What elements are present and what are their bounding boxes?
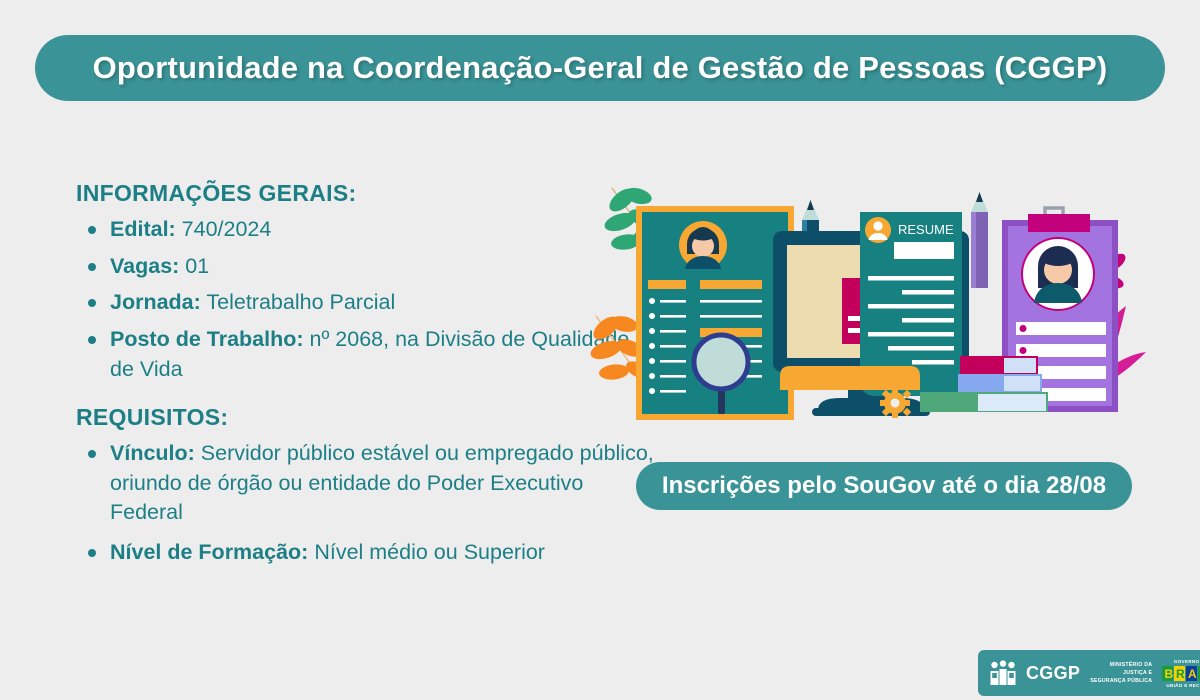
keyboard-illustration (780, 366, 920, 390)
list-item-label: Jornada: (110, 290, 201, 314)
list-item-value: Nível médio ou Superior (308, 540, 545, 564)
requisitos-section: REQUISITOS: Vínculo: Servidor público es… (76, 404, 656, 578)
requisitos-list: Vínculo: Servidor público estável ou emp… (76, 439, 656, 568)
ministry-label: MINISTÉRIO DA JUSTIÇA E SEGURANÇA PÚBLIC… (1090, 661, 1152, 685)
governo-federal-logo: GOVERNO FEDERAL B R A S I L UNIÃO E RECO… (1162, 659, 1200, 688)
list-item-label: Posto de Trabalho: (110, 327, 304, 351)
poster-canvas: Oportunidade na Coordenação-Geral de Ges… (0, 0, 1200, 700)
list-item-label: Vínculo: (110, 441, 195, 465)
governo-federal-top-label: GOVERNO FEDERAL (1174, 659, 1200, 664)
list-item-value: 01 (179, 254, 209, 278)
floor-dash-decoration (848, 396, 868, 403)
governo-federal-bottom-label: UNIÃO E RECONSTRUÇÃO (1166, 683, 1200, 688)
list-item-value: 740/2024 (176, 217, 272, 241)
page-title: Oportunidade na Coordenação-Geral de Ges… (93, 50, 1108, 86)
brasil-wordmark-icon: B R A S I L (1162, 665, 1200, 682)
list-item: Nível de Formação: Nível médio ou Superi… (76, 538, 656, 568)
ministry-line-2: JUSTIÇA E (1090, 669, 1152, 677)
svg-text:B: B (1165, 667, 1174, 681)
informacoes-gerais-section: INFORMAÇÕES GERAIS: Edital: 740/2024 Vag… (76, 180, 636, 391)
list-item: Vínculo: Servidor público estável ou emp… (76, 439, 656, 528)
ministry-line-1: MINISTÉRIO DA (1090, 661, 1152, 669)
list-item: Vagas: 01 (76, 252, 636, 282)
people-group-icon (988, 660, 1022, 686)
svg-text:A: A (1188, 667, 1197, 681)
footer-logo-bar: CGGP MINISTÉRIO DA JUSTIÇA E SEGURANÇA P… (978, 650, 1200, 696)
svg-text:R: R (1176, 667, 1185, 681)
section-heading-informacoes: INFORMAÇÕES GERAIS: (76, 180, 636, 207)
cta-label: Inscrições pelo SouGov até o dia 28/08 (662, 472, 1106, 500)
list-item-label: Edital: (110, 217, 176, 241)
list-item-value: Teletrabalho Parcial (201, 290, 395, 314)
list-item: Posto de Trabalho: nº 2068, na Divisão d… (76, 325, 636, 384)
resume-card-label: RESUME (898, 222, 954, 237)
purple-pencil-icon (971, 192, 988, 288)
gear-icon (880, 388, 911, 418)
section-heading-requisitos: REQUISITOS: (76, 404, 656, 431)
ministry-line-3: SEGURANÇA PÚBLICA (1090, 677, 1152, 685)
recruitment-illustration: RESUME (590, 170, 1150, 430)
list-item: Edital: 740/2024 (76, 215, 636, 245)
header-banner: Oportunidade na Coordenação-Geral de Ges… (35, 35, 1165, 101)
list-item: Jornada: Teletrabalho Parcial (76, 288, 636, 318)
cggp-logo: CGGP (988, 660, 1080, 686)
inscricoes-cta-banner: Inscrições pelo SouGov até o dia 28/08 (636, 462, 1132, 510)
informacoes-list: Edital: 740/2024 Vagas: 01 Jornada: Tele… (76, 215, 636, 384)
list-item-label: Nível de Formação: (110, 540, 308, 564)
cggp-wordmark: CGGP (1026, 664, 1080, 682)
list-item-label: Vagas: (110, 254, 179, 278)
